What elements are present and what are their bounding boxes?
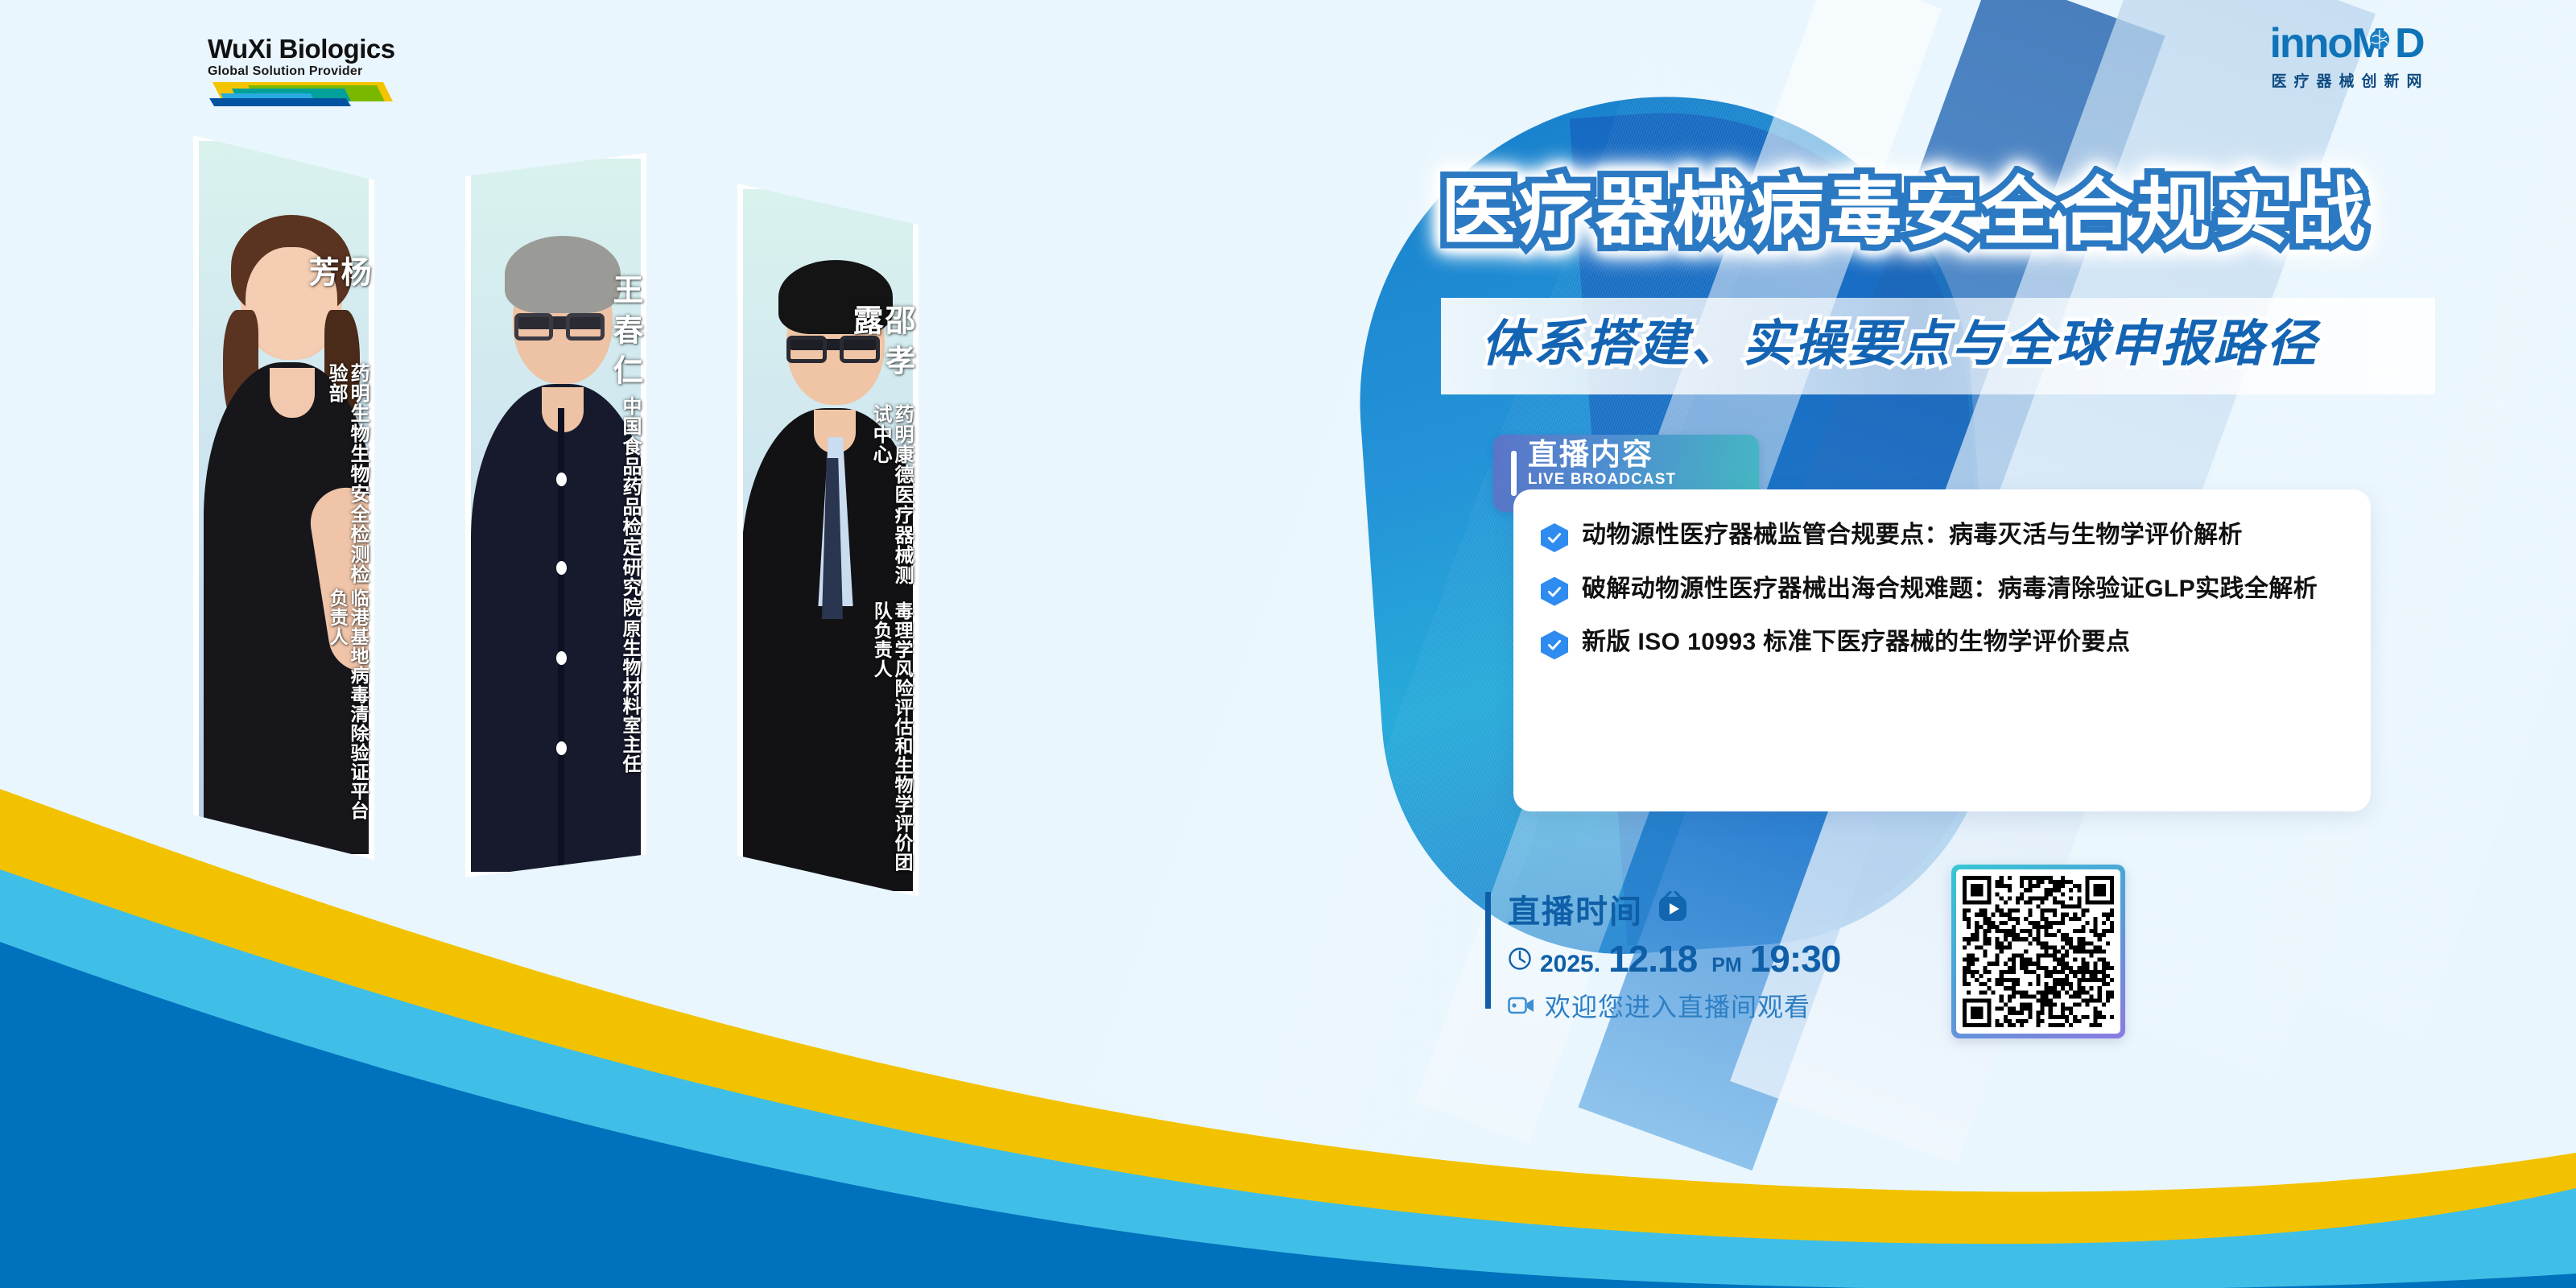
speaker-role-1: 临港基地病毒清除验证平台负责人 bbox=[327, 588, 369, 836]
live-content-item-text: 新版 ISO 10993 标准下医疗器械的生物学评价要点 bbox=[1582, 625, 2130, 660]
broadcast-date: 12.18 bbox=[1608, 937, 1697, 980]
wuxi-logo-tagline: Global Solution Provider bbox=[208, 64, 441, 79]
speaker-role-3: 毒理学风险评估和生物学评价团队负责人 bbox=[871, 601, 913, 884]
globe-icon bbox=[2369, 29, 2390, 50]
live-content-card: 动物源性医疗器械监管合规要点：病毒灭活与生物学评价解析 破解动物源性医疗器械出海… bbox=[1513, 489, 2371, 811]
wuxi-biologics-logo: WuXi Biologics Global Solution Provider bbox=[208, 35, 441, 108]
live-content-item-text: 动物源性医疗器械监管合规要点：病毒灭活与生物学评价解析 bbox=[1582, 518, 2243, 553]
video-camera-icon bbox=[1508, 995, 1535, 1016]
wave-deep-blue bbox=[0, 942, 2576, 1288]
speaker-org-1: 药明生物生物安全检测检验部 bbox=[324, 363, 368, 586]
speaker-role-2: 原生物材料室主任 bbox=[619, 619, 640, 774]
time-accent-bar bbox=[1485, 892, 1491, 1009]
broadcast-clock-time: 19:30 bbox=[1750, 937, 1841, 980]
check-badge-icon bbox=[1541, 630, 1568, 659]
innomd-logo-inno: inno bbox=[2269, 20, 2351, 67]
qr-code-image bbox=[1963, 876, 2114, 1027]
tab-accent-bar bbox=[1511, 451, 1517, 496]
tv-play-icon bbox=[1654, 891, 1691, 927]
banner-canvas: WuXi Biologics Global Solution Provider … bbox=[0, 0, 2576, 1288]
live-content-item: 新版 ISO 10993 标准下医疗器械的生物学评价要点 bbox=[1541, 625, 2339, 660]
page-title: 医疗器械病毒安全合规实战 bbox=[1441, 171, 2455, 254]
title-group: 医疗器械病毒安全合规实战 bbox=[1441, 171, 2455, 254]
speaker-name-block-1: 杨 芳 药明生物生物安全检测检验部 临港基地病毒清除验证平台负责人 bbox=[303, 256, 368, 836]
innomd-logo-wordmark: innoM D bbox=[2206, 23, 2487, 64]
live-content-item: 破解动物源性医疗器械出海合规难题：病毒清除验证GLP实践全解析 bbox=[1541, 572, 2339, 607]
wuxi-logo-name: WuXi Biologics bbox=[208, 35, 441, 62]
speaker-card-1: 杨 芳 药明生物生物安全检测检验部 临港基地病毒清除验证平台负责人 bbox=[193, 135, 374, 860]
broadcast-year: 2025. bbox=[1540, 951, 1600, 978]
clock-icon bbox=[1508, 947, 1532, 971]
check-badge-icon bbox=[1541, 523, 1568, 552]
broadcast-time-label: 直播时间 bbox=[1508, 885, 1643, 932]
live-content-tab-label-cn: 直播内容 bbox=[1528, 440, 1759, 471]
innomd-logo-d: D bbox=[2385, 20, 2424, 67]
broadcast-note: 欢迎您进入直播间观看 bbox=[1545, 987, 1810, 1024]
wave-light-blue bbox=[0, 869, 2576, 1288]
speaker-name-block-2: 王春仁 中国食品药品检定研究院 原生物材料室主任 bbox=[608, 274, 640, 853]
speaker-name-1: 杨 芳 bbox=[303, 256, 368, 361]
speaker-name-2: 王春仁 bbox=[608, 274, 640, 394]
live-content-item: 动物源性医疗器械监管合规要点：病毒灭活与生物学评价解析 bbox=[1541, 518, 2339, 553]
speaker-name-block-3: 邵孝露 药明康德医疗器械测试中心 毒理学风险评估和生物学评价团队负责人 bbox=[848, 304, 912, 884]
speaker-org-2: 中国食品药品检定研究院 bbox=[618, 396, 640, 617]
innomd-logo-subtitle: 医疗器械创新网 bbox=[2206, 69, 2487, 91]
live-content-item-text: 破解动物源性医疗器械出海合规难题：病毒清除验证GLP实践全解析 bbox=[1582, 572, 2318, 607]
page-subtitle: 体系搭建、实操要点与全球申报路径 bbox=[1481, 310, 2479, 378]
qr-code-inner bbox=[1956, 869, 2120, 1034]
broadcast-meridiem: PM bbox=[1711, 954, 1742, 977]
qr-code[interactable] bbox=[1951, 865, 2125, 1038]
speaker-card-3: 邵孝露 药明康德医疗器械测试中心 毒理学风险评估和生物学评价团队负责人 bbox=[737, 184, 919, 897]
speaker-card-list: 杨 芳 药明生物生物安全检测检验部 临港基地病毒清除验证平台负责人 bbox=[193, 135, 1320, 908]
speaker-name-3: 邵孝露 bbox=[848, 304, 912, 402]
speaker-card-2: 王春仁 中国食品药品检定研究院 原生物材料室主任 bbox=[465, 153, 646, 877]
innomd-logo: innoM D 医疗器械创新网 bbox=[2206, 23, 2487, 111]
wuxi-logo-swoosh-icon bbox=[208, 80, 441, 108]
speaker-org-3: 药明康德医疗器械测试中心 bbox=[869, 404, 912, 601]
check-badge-icon bbox=[1541, 577, 1568, 606]
